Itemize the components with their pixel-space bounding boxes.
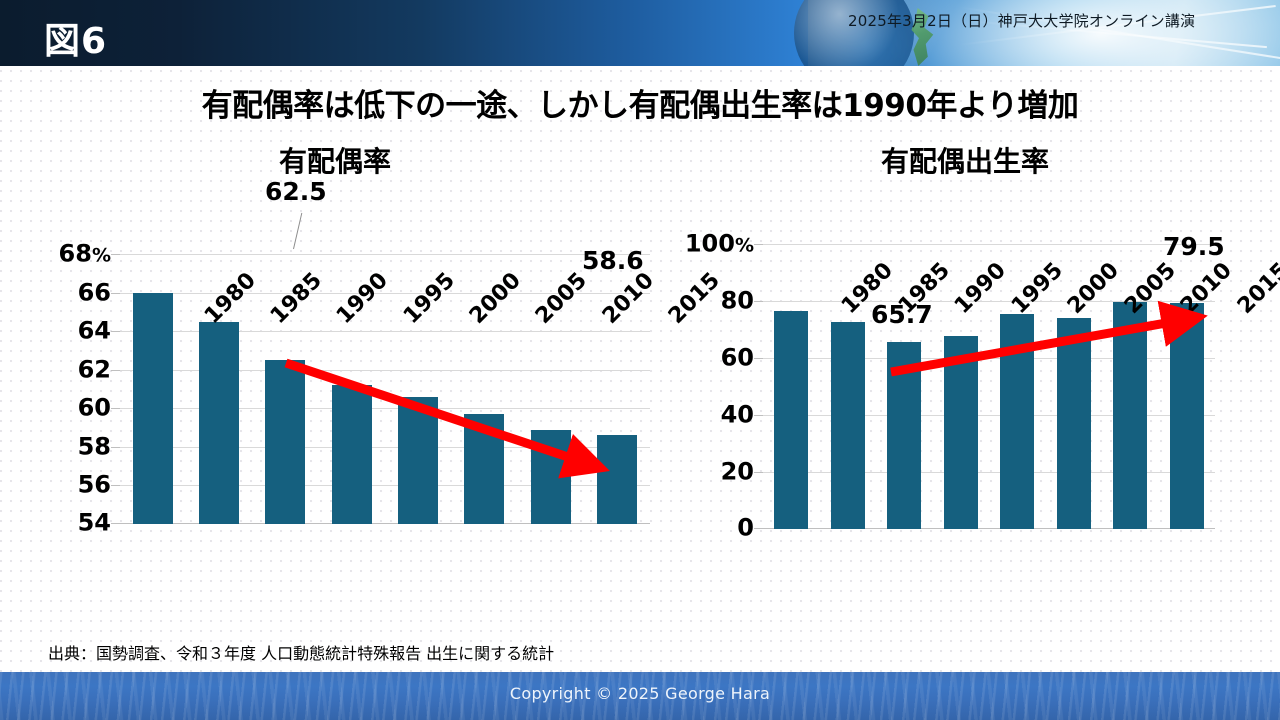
chart-panel-marital-birth-rate: 有配偶出生率 100% 80 60 40 20 0 bbox=[655, 132, 1275, 632]
bar-2010 bbox=[1113, 302, 1147, 529]
bar-1990 bbox=[265, 360, 305, 524]
y-tick-label: 60 bbox=[721, 343, 754, 371]
bar-1995 bbox=[332, 385, 372, 524]
x-tick-label-1995: 1995 bbox=[399, 268, 460, 329]
bar-2000 bbox=[398, 397, 438, 524]
copyright-label: Copyright © 2025 George Hara bbox=[0, 684, 1280, 703]
page-title: 有配偶率は低下の一途、しかし有配偶出生率は1990年より増加 bbox=[0, 80, 1280, 125]
y-tick-label: 68% bbox=[59, 239, 111, 267]
bar-1990 bbox=[887, 342, 921, 529]
bar-2005 bbox=[464, 414, 504, 524]
x-tick-label-2000: 2000 bbox=[465, 268, 526, 329]
chart-title-marriage-rate: 有配偶率 bbox=[20, 140, 660, 180]
x-tick-label-2010: 2010 bbox=[1176, 258, 1237, 319]
y-tick-label: 60 bbox=[78, 394, 111, 422]
y-tick-label: 56 bbox=[78, 471, 111, 499]
y-tick-label: 58 bbox=[78, 432, 111, 460]
data-label-2015: 79.5 bbox=[1163, 232, 1225, 261]
data-label-1990: 65.7 bbox=[871, 300, 933, 329]
slide-header: 図6 2025年3月2日（日）神戸大大学院オンライン講演 bbox=[0, 0, 1280, 66]
data-label-2015: 58.6 bbox=[582, 246, 644, 275]
data-label-1990: 62.5 bbox=[265, 177, 327, 206]
x-tick-label-2015: 2015 bbox=[1233, 258, 1280, 319]
bar-2015 bbox=[1170, 303, 1204, 529]
y-tick-label: 0 bbox=[737, 513, 754, 541]
y-tick-label: 54 bbox=[78, 508, 111, 536]
x-tick-label-2005: 2005 bbox=[531, 268, 592, 329]
x-tick-label-1990: 1990 bbox=[950, 258, 1011, 319]
y-tick-label: 66 bbox=[78, 278, 111, 306]
bar-1980 bbox=[774, 311, 808, 529]
header-gradient-band bbox=[0, 0, 810, 66]
bar-2005 bbox=[1057, 318, 1091, 529]
plot-area-marriage-rate: 68% 66 64 62 60 58 56 54 bbox=[120, 254, 650, 524]
y-tick-label: 62 bbox=[78, 355, 111, 383]
x-tick-label-1990: 1990 bbox=[332, 268, 393, 329]
x-tick-label-2010: 2010 bbox=[598, 268, 659, 329]
bar-2010 bbox=[531, 430, 571, 525]
source-note: 出典：国勢調査、令和３年度 人口動態統計特殊報告 出生に関する統計 bbox=[48, 640, 554, 664]
x-tick-label-1995: 1995 bbox=[1007, 258, 1068, 319]
chart-panel-marriage-rate: 有配偶率 68% 66 64 62 60 58 56 bbox=[20, 132, 650, 632]
y-tick-label: 80 bbox=[721, 286, 754, 314]
x-tick-label-1980: 1980 bbox=[200, 268, 261, 329]
y-tick-label: 100% bbox=[685, 229, 754, 257]
y-tick-label: 40 bbox=[721, 400, 754, 428]
figure-badge: 図6 bbox=[44, 12, 107, 64]
bar-2015 bbox=[597, 435, 637, 524]
y-tick-label: 20 bbox=[721, 457, 754, 485]
plot-area-marital-birth-rate: 100% 80 60 40 20 0 bbox=[763, 244, 1215, 529]
bar-1980 bbox=[133, 293, 173, 524]
bar-2000 bbox=[1000, 314, 1034, 529]
bar-1985 bbox=[199, 322, 239, 525]
header-date-label: 2025年3月2日（日）神戸大大学院オンライン講演 bbox=[848, 10, 1195, 31]
slide-canvas: 図6 2025年3月2日（日）神戸大大学院オンライン講演 有配偶率は低下の一途、… bbox=[0, 0, 1280, 720]
chart-title-marital-birth-rate: 有配偶出生率 bbox=[655, 140, 1280, 180]
bar-1995 bbox=[944, 336, 978, 529]
x-tick-label-1985: 1985 bbox=[266, 268, 327, 329]
bar-1985 bbox=[831, 322, 865, 529]
slide-footer: Copyright © 2025 George Hara bbox=[0, 672, 1280, 720]
y-tick-label: 64 bbox=[78, 317, 111, 345]
